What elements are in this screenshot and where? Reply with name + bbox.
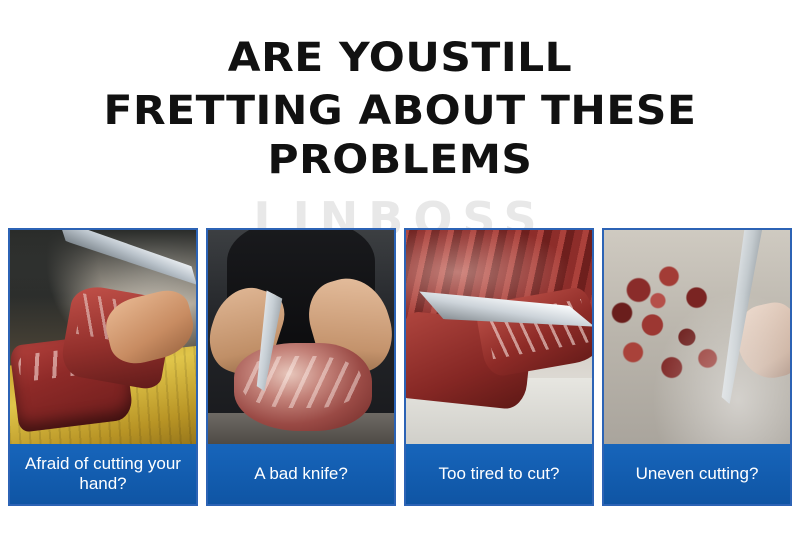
chopped-meat-pieces-photo bbox=[604, 230, 790, 448]
problem-card: Too tired to cut? bbox=[404, 228, 594, 506]
promo-banner: ARE YOUSTILL FRETTING ABOUT THESE PROBLE… bbox=[0, 0, 800, 554]
headline-line-1: ARE YOUSTILL bbox=[0, 34, 800, 83]
card-caption: Afraid of cutting your hand? bbox=[10, 444, 196, 504]
headline-line-2: FRETTING ABOUT THESE PROBLEMS bbox=[0, 87, 800, 185]
card-caption: Uneven cutting? bbox=[604, 444, 790, 504]
butcher-cutting-ribs-photo bbox=[10, 230, 196, 448]
problem-card: A bad knife? bbox=[206, 228, 396, 506]
page-title: ARE YOUSTILL FRETTING ABOUT THESE PROBLE… bbox=[0, 34, 800, 184]
knife-slicing-steak-photo bbox=[406, 230, 592, 448]
problem-cards-row: Afraid of cutting your hand? A bad knife… bbox=[8, 228, 792, 508]
card-caption: A bad knife? bbox=[208, 444, 394, 504]
problem-card: Afraid of cutting your hand? bbox=[8, 228, 198, 506]
card-caption: Too tired to cut? bbox=[406, 444, 592, 504]
person-cutting-meat-photo bbox=[208, 230, 394, 448]
problem-card: Uneven cutting? bbox=[602, 228, 792, 506]
